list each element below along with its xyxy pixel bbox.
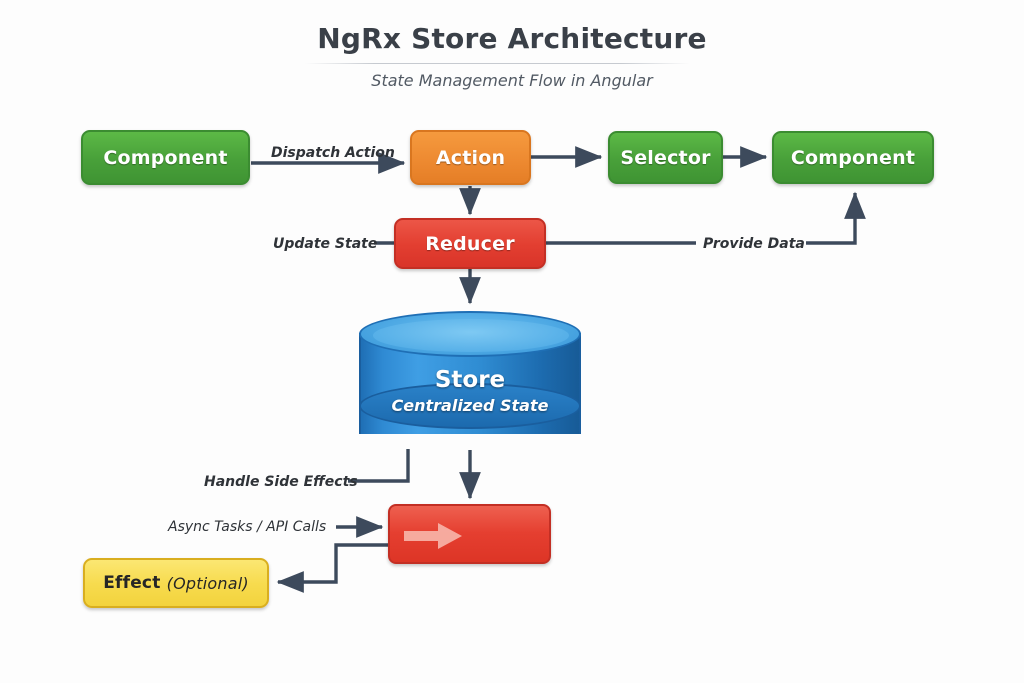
- store-sublabel: Centralized State: [359, 394, 581, 418]
- node-label: Component: [791, 147, 915, 169]
- edge-provide-data-to-component: [806, 193, 855, 243]
- title-divider: [305, 63, 690, 64]
- edge-label-update-state: Update State: [273, 236, 377, 252]
- store-label-group: Store Centralized State: [359, 366, 581, 418]
- store-label: Store: [359, 366, 581, 394]
- edge-label-handle-side-effects: Handle Side Effects: [204, 474, 358, 490]
- node-store[interactable]: Store Centralized State: [359, 311, 581, 456]
- cylinder-top-inner: [373, 319, 569, 352]
- edge-effect-process-to-effect: [278, 545, 388, 582]
- right-arrow-icon: [404, 521, 464, 551]
- node-action[interactable]: Action: [410, 130, 531, 185]
- edge-label-dispatch-action: Dispatch Action: [271, 145, 395, 161]
- node-label-suffix: (Optional): [167, 574, 249, 593]
- node-selector[interactable]: Selector: [608, 131, 723, 184]
- node-label: Component: [103, 147, 227, 169]
- node-label: Effect: [103, 573, 160, 593]
- page-title: NgRx Store Architecture: [0, 22, 1024, 55]
- node-reducer[interactable]: Reducer: [394, 218, 546, 269]
- node-effect-process[interactable]: [388, 504, 551, 564]
- node-component-right[interactable]: Component: [772, 131, 934, 184]
- cylinder-top-ellipse: [359, 311, 581, 357]
- node-label: Reducer: [425, 233, 515, 255]
- edge-label-async-tasks: Async Tasks / API Calls: [168, 519, 326, 535]
- node-component-left[interactable]: Component: [81, 130, 250, 185]
- node-label: Action: [436, 147, 505, 169]
- node-effect[interactable]: Effect (Optional): [83, 558, 269, 608]
- node-label: Selector: [620, 147, 710, 169]
- diagram-canvas: NgRx Store Architecture State Management…: [0, 0, 1024, 683]
- page-subtitle: State Management Flow in Angular: [0, 71, 1024, 90]
- edge-label-provide-data: Provide Data: [703, 236, 805, 252]
